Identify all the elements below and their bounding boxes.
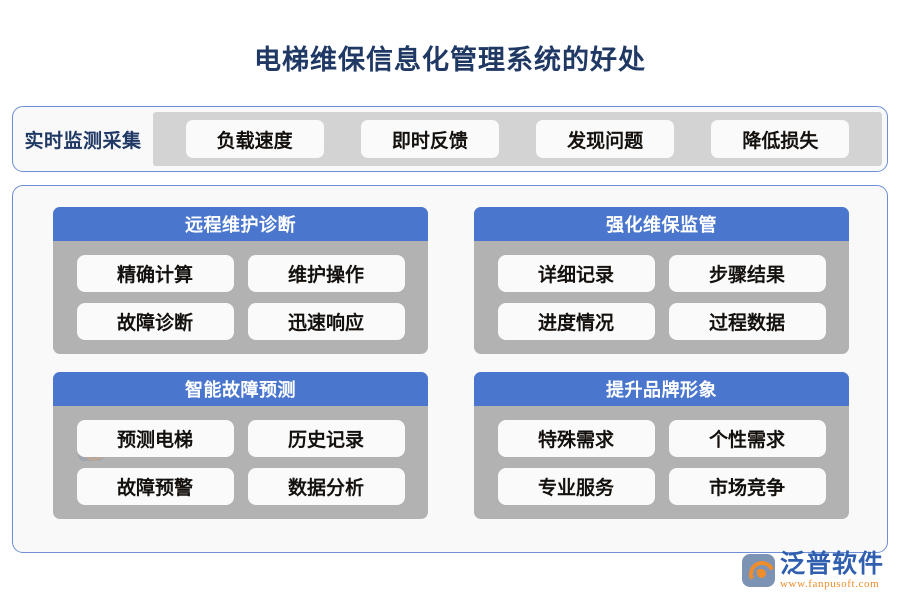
benefit-item[interactable]: 特殊需求	[498, 420, 655, 457]
fanpu-logo: 泛普软件 www.fanpusoft.com	[742, 551, 884, 591]
benefit-cards-grid: 远程维护诊断 精确计算 维护操作 故障诊断 迅速响应 强化维保监管 详细记录 步…	[53, 207, 849, 519]
benefit-item[interactable]: 迅速响应	[248, 303, 405, 340]
benefit-card-header: 强化维保监管	[474, 207, 849, 241]
benefit-card: 强化维保监管 详细记录 步骤结果 进度情况 过程数据	[474, 207, 849, 354]
benefit-card: 提升品牌形象 特殊需求 个性需求 专业服务 市场竞争	[474, 372, 849, 519]
top-pill[interactable]: 即时反馈	[361, 120, 499, 158]
benefit-item[interactable]: 个性需求	[669, 420, 826, 457]
benefit-card-header: 提升品牌形象	[474, 372, 849, 406]
benefit-card-items: 特殊需求 个性需求 专业服务 市场竞争	[474, 406, 849, 505]
benefit-item[interactable]: 预测电梯	[77, 420, 234, 457]
fanpu-logo-icon	[742, 554, 775, 587]
benefit-item[interactable]: 故障预警	[77, 468, 234, 505]
benefit-card: 远程维护诊断 精确计算 维护操作 故障诊断 迅速响应	[53, 207, 428, 354]
benefit-item[interactable]: 步骤结果	[669, 255, 826, 292]
benefit-item[interactable]: 故障诊断	[77, 303, 234, 340]
benefit-card-items: 详细记录 步骤结果 进度情况 过程数据	[474, 241, 849, 340]
benefits-panel: 远程维护诊断 精确计算 维护操作 故障诊断 迅速响应 强化维保监管 详细记录 步…	[12, 185, 888, 553]
realtime-monitoring-label: 实时监测采集	[13, 126, 153, 153]
benefit-item[interactable]: 过程数据	[669, 303, 826, 340]
benefit-item[interactable]: 数据分析	[248, 468, 405, 505]
benefit-card-items: 精确计算 维护操作 故障诊断 迅速响应	[53, 241, 428, 340]
realtime-monitoring-pill-strip: 负载速度 即时反馈 发现问题 降低损失	[153, 112, 882, 166]
fanpu-logo-text: 泛普软件 www.fanpusoft.com	[780, 551, 884, 591]
benefit-card-header: 远程维护诊断	[53, 207, 428, 241]
benefit-item[interactable]: 维护操作	[248, 255, 405, 292]
page-title: 电梯维保信息化管理系统的好处	[0, 43, 900, 77]
benefit-item[interactable]: 专业服务	[498, 468, 655, 505]
benefit-item[interactable]: 历史记录	[248, 420, 405, 457]
benefit-card: 智能故障预测 预测电梯 历史记录 故障预警 数据分析	[53, 372, 428, 519]
benefit-item[interactable]: 详细记录	[498, 255, 655, 292]
benefit-card-header: 智能故障预测	[53, 372, 428, 406]
top-pill[interactable]: 负载速度	[186, 120, 324, 158]
top-pill[interactable]: 发现问题	[536, 120, 674, 158]
fanpu-logo-name: 泛普软件	[780, 551, 884, 578]
benefit-item[interactable]: 精确计算	[77, 255, 234, 292]
benefit-item[interactable]: 进度情况	[498, 303, 655, 340]
fanpu-logo-url: www.fanpusoft.com	[780, 578, 884, 591]
top-pill[interactable]: 降低损失	[711, 120, 849, 158]
benefit-item[interactable]: 市场竞争	[669, 468, 826, 505]
benefit-card-items: 预测电梯 历史记录 故障预警 数据分析	[53, 406, 428, 505]
realtime-monitoring-panel: 实时监测采集 负载速度 即时反馈 发现问题 降低损失	[12, 106, 888, 172]
